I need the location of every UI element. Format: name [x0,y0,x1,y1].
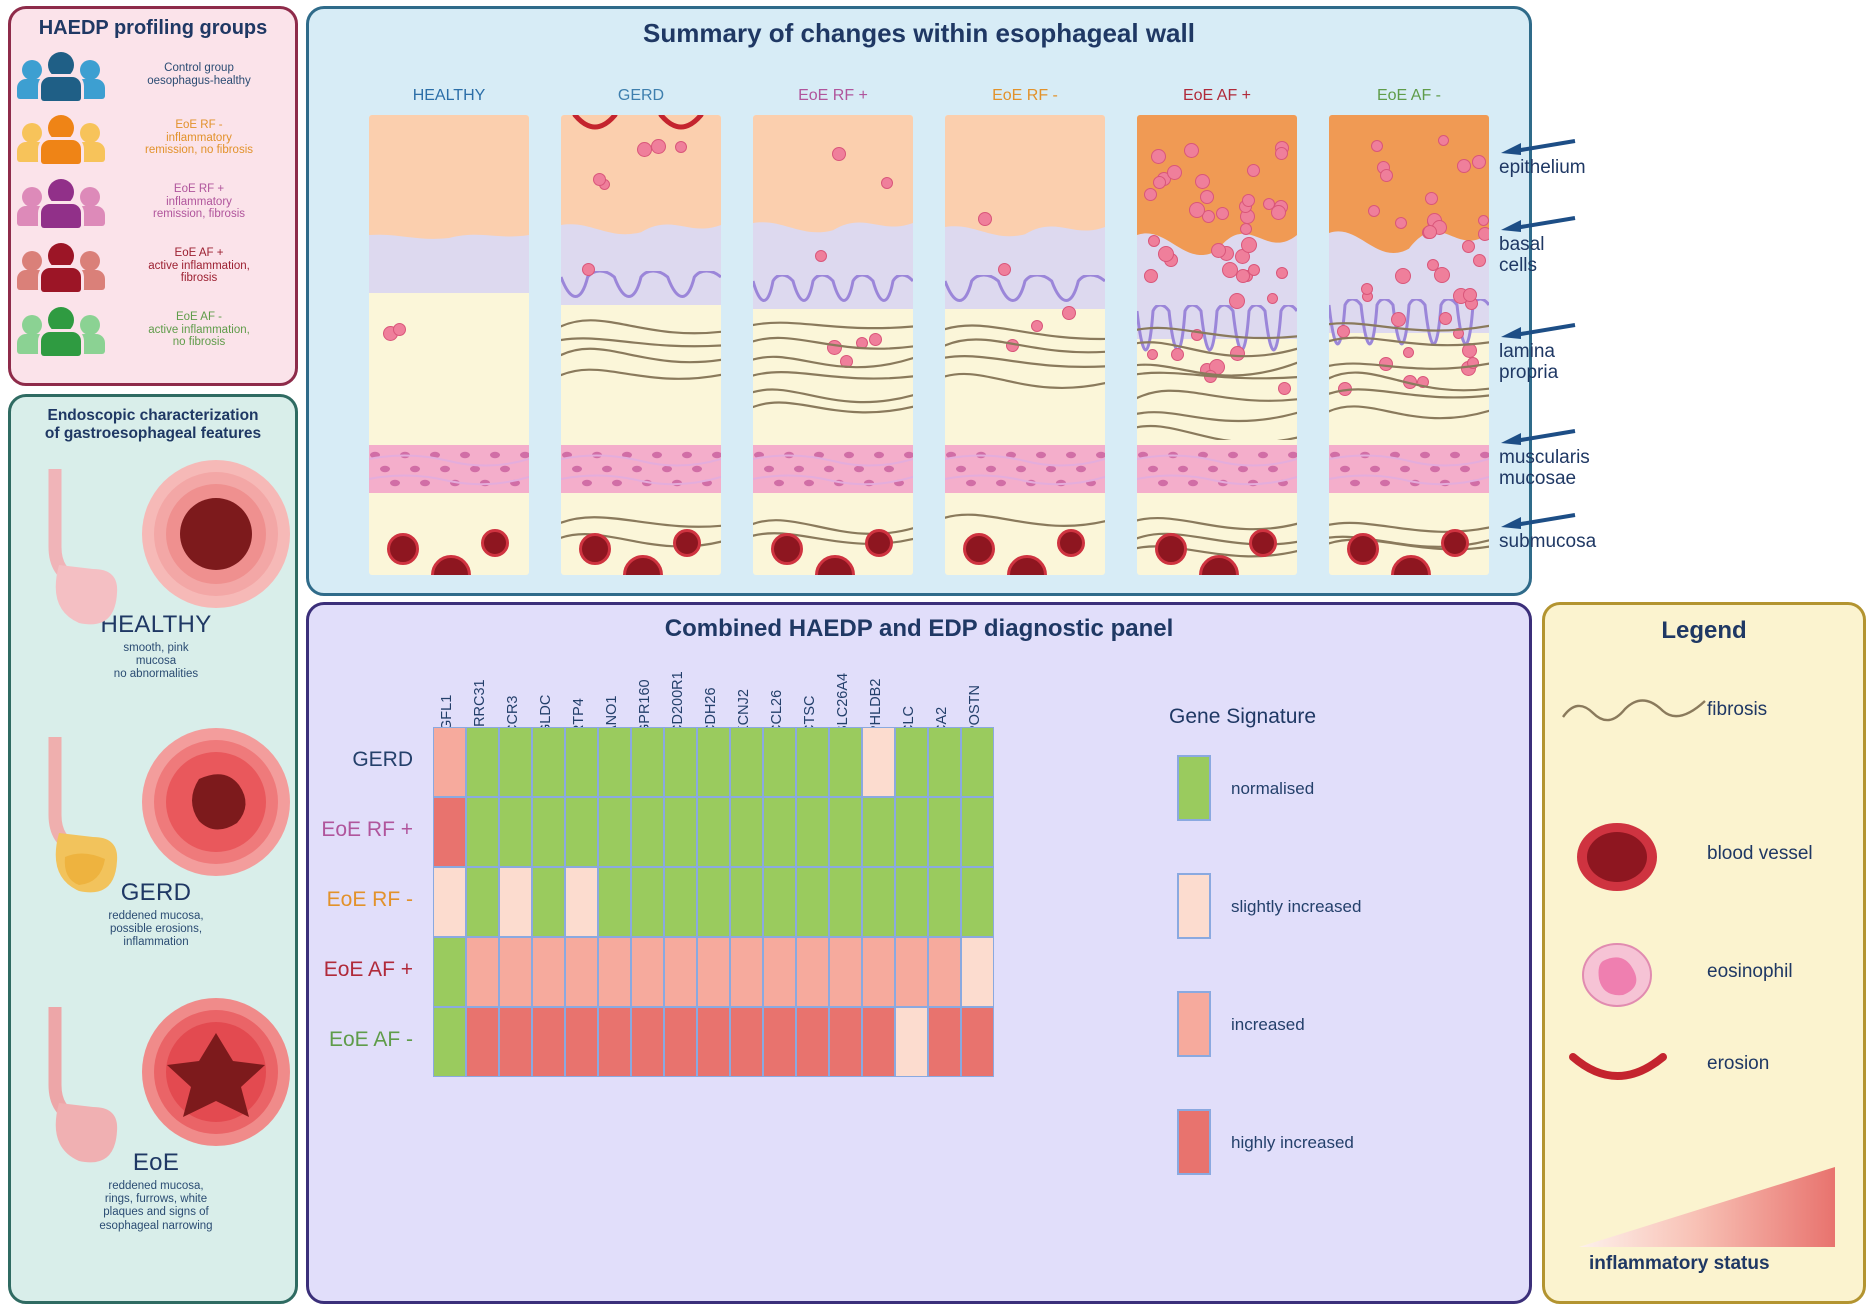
tissue-layer-label-text: lamina propria [1499,342,1558,384]
heatmap-row-label: EoE AF - [233,1028,413,1052]
epithelium-layer [369,115,529,265]
heatmap-cell [862,797,895,867]
heatmap-cell [895,797,928,867]
eosinophil-icon [1229,293,1245,309]
inflammatory-status-label: inflammatory status [1589,1253,1770,1275]
profiling-group-label-line: remission, fibrosis [107,208,291,221]
eosinophil-icon [1472,155,1486,169]
people-group-icon [15,243,107,289]
heatmap-cell [433,937,466,1007]
heatmap-cell [928,937,961,1007]
profiling-group-row: EoE AF +active inflammation,fibrosis [11,234,295,298]
heatmap-cell [598,727,631,797]
heatmap-cell [829,867,862,937]
heatmap-cell [532,867,565,937]
profiling-group-row: EoE AF -active inflammation,no fibrosis [11,298,295,362]
heatmap-cell [730,727,763,797]
heatmap-cell [565,797,598,867]
heatmap-cell [895,1007,928,1077]
endoscopic-characterization-panel: Endoscopic characterization of gastroeso… [8,394,298,1304]
heatmap-cell [796,797,829,867]
fibrosis-icon [1329,310,1489,440]
gene-signature-title: Gene Signature [1169,705,1316,729]
tissue-layer-label: basal cells [1499,214,1585,277]
heatmap-cell [697,867,730,937]
heatmap-cell [928,867,961,937]
heatmap-cell [796,1007,829,1077]
heatmap-cell [433,867,466,937]
endoscopy-item-description: smooth, pinkmucosano abnormalities [11,642,301,682]
eosinophil-icon [1478,227,1489,241]
eosinophil-icon [1240,223,1252,235]
eosinophil-icon [1242,194,1255,207]
esophageal-wall-column [561,115,721,575]
heatmap-cell [565,1007,598,1077]
eosinophil-icon [1153,176,1166,189]
erosion-icon [561,115,721,143]
heatmap-cell [763,1007,796,1077]
heatmap-cell [796,727,829,797]
wall-column-header: HEALTHY [369,87,529,105]
tissue-layer-label-text: submucosa [1499,532,1596,553]
wall-column-header: EoE RF - [945,87,1105,105]
wavy-line-icon [1559,691,1709,736]
eosinophil-icon [637,142,652,157]
esophageal-wall-column [945,115,1105,575]
heatmap-cell [829,727,862,797]
profiling-group-label: EoE RF -inflammatoryremission, no fibros… [107,119,291,158]
profiling-group-label-line: remission, no fibrosis [107,144,291,157]
gene-signature-legend-label: normalised [1231,779,1314,799]
endoscopic-view-icon [141,459,291,609]
tissue-layer-label-text: muscularis mucosae [1499,448,1590,490]
profiling-group-label: Control groupoesophagus-healthy [107,62,291,88]
endoscopy-description-line: plaques and signs of [33,1206,279,1219]
eosinophil-icon [1211,243,1226,258]
muscularis-mucosae-layer [369,445,529,493]
heatmap-cell [895,727,928,797]
heatmap-row-label: EoE RF - [233,888,413,912]
heatmap-cell [829,797,862,867]
muscularis-mucosae-layer [945,445,1105,493]
muscularis-mucosae-layer [1137,445,1297,493]
eosinophil-icon [651,139,666,154]
heatmap-cell [631,937,664,1007]
people-group-icon [15,179,107,225]
panel-title-line-1: Endoscopic characterization [17,407,289,425]
heatmap-cell [862,727,895,797]
heatmap-cell [961,937,994,1007]
endoscopy-description-line: smooth, pink [33,642,279,655]
gene-signature-swatch [1177,1109,1211,1175]
muscularis-mucosae-layer [753,445,913,493]
blood-vessel-icon [387,533,419,565]
heatmap-cell [466,1007,499,1077]
eosinophil-icon [1462,240,1475,253]
heatmap-cell [664,1007,697,1077]
people-group-icon [15,307,107,353]
gene-signature-legend-label: highly increased [1231,1133,1354,1153]
profiling-group-list: Control groupoesophagus-healthy EoE RF -… [11,44,295,362]
gene-signature-swatch [1177,755,1211,821]
blood-vessel-icon [1249,529,1277,557]
people-group-icon [15,52,107,98]
legend-panel: Legend fibrosis blood vessel eosinophile… [1542,602,1866,1304]
stomach-diagram-icon [35,1007,127,1167]
heatmap-cell [499,797,532,867]
legend-item-label: blood vessel [1707,843,1813,865]
esophageal-wall-column [753,115,913,575]
endoscopy-description-line: reddened mucosa, [33,1180,279,1193]
eosinophil-icon [1276,267,1288,279]
heatmap-cell [697,727,730,797]
heatmap-cell [763,797,796,867]
tissue-layer-label: muscularis mucosae [1499,427,1590,490]
blood-vessel-icon [1559,817,1709,902]
legend-item-label: fibrosis [1707,699,1767,721]
eosinophil-icon [978,212,992,226]
fibrosis-icon [945,310,1105,440]
heatmap-cell [499,1007,532,1077]
blood-vessel-icon [1441,529,1469,557]
heatmap-cell [730,867,763,937]
eosinophil-icon [1167,165,1182,180]
heatmap-cell [664,797,697,867]
eosinophil-icon [1559,935,1709,1020]
inflammatory-gradient-icon [1579,1161,1835,1247]
epithelium-layer [945,115,1105,257]
profiling-group-row: Control groupoesophagus-healthy [11,44,295,106]
profiling-group-label-line: fibrosis [107,272,291,285]
wall-column-header: EoE AF + [1137,87,1297,105]
heatmap-cell [664,937,697,1007]
blood-vessel-icon [963,533,995,565]
heatmap-cell [499,727,532,797]
profiling-group-label-line: Control group [107,62,291,75]
profiling-group-label-line: inflammatory [107,132,291,145]
haedp-profiling-groups-panel: HAEDP profiling groups Control groupoeso… [8,6,298,386]
tissue-layer-label: epithelium [1499,137,1586,179]
heatmap-cell [829,1007,862,1077]
gene-column-label: CD200R1 [670,671,686,735]
wall-column-header: GERD [561,87,721,105]
heatmap-cell [631,797,664,867]
eosinophil-icon [998,263,1011,276]
tissue-layer-label-text: epithelium [1499,158,1586,179]
profiling-group-label-line: EoE RF - [107,119,291,132]
heatmap-cell [499,937,532,1007]
panel-title: Legend [1545,617,1863,645]
wall-column-header: EoE RF + [753,87,913,105]
heatmap-cell [862,937,895,1007]
heatmap-row-label: GERD [233,748,413,772]
eosinophil-icon [1241,237,1257,253]
profiling-group-label-line: no fibrosis [107,336,291,349]
heatmap-cell [928,797,961,867]
blood-vessel-icon [771,533,803,565]
heatmap-cell [466,867,499,937]
fibrosis-icon [561,310,721,440]
gene-signature-legend-label: slightly increased [1231,897,1361,917]
blood-vessel-icon [1155,533,1187,565]
gene-signature-swatch [1177,991,1211,1057]
gene-signature-legend-label: increased [1231,1015,1305,1035]
heatmap-cell [499,867,532,937]
profiling-group-row: EoE RF -inflammatoryremission, no fibros… [11,106,295,170]
eosinophil-icon [1427,259,1439,271]
profiling-group-label-line: EoE AF + [107,247,291,260]
heatmap-cell [466,797,499,867]
blood-vessel-icon [1057,529,1085,557]
eosinophil-icon [1271,205,1286,220]
heatmap-cell [895,937,928,1007]
endoscopy-description-line: mucosa [33,655,279,668]
heatmap-cell [895,867,928,937]
heatmap-cell [565,937,598,1007]
esophageal-wall-column [1137,115,1297,575]
heatmap-cell [565,727,598,797]
heatmap-cell [598,797,631,867]
heatmap-row-label: EoE AF + [233,958,413,982]
eosinophil-icon [1144,269,1158,283]
profiling-group-label-line: active inflammation, [107,324,291,337]
heatmap-cell [631,1007,664,1077]
endoscopic-view-icon [141,997,291,1147]
eosinophil-icon [815,250,827,262]
tissue-layer-label: lamina propria [1499,321,1585,384]
heatmap-cell [664,867,697,937]
heatmap-cell [763,937,796,1007]
heatmap-cell [433,727,466,797]
heatmap-cell [433,1007,466,1077]
blood-vessel-icon [579,533,611,565]
eosinophil-icon [1473,254,1486,267]
eosinophil-icon [1248,264,1260,276]
eosinophil-icon [1158,246,1174,262]
diagnostic-panel: Combined HAEDP and EDP diagnostic panel … [306,602,1532,1304]
stomach-diagram-icon [35,469,127,629]
heatmap-cell [961,797,994,867]
heatmap-cell [631,867,664,937]
endoscopy-description-line: possible erosions, [33,923,279,936]
panel-title: Endoscopic characterization of gastroeso… [17,407,289,444]
endoscopy-item-description: reddened mucosa,possible erosions,inflam… [11,910,301,950]
heatmap-cell [697,1007,730,1077]
heatmap-cell [730,1007,763,1077]
endoscopy-description-line: rings, furrows, white [33,1193,279,1206]
erosion-icon [1559,1047,1709,1098]
profiling-group-label-line: inflammatory [107,196,291,209]
heatmap-cell [565,867,598,937]
endoscopy-description-line: no abnormalities [33,668,279,681]
heatmap-cell [598,937,631,1007]
heatmap-cell [598,867,631,937]
esophageal-wall-column [1329,115,1489,575]
profiling-group-label-line: oesophagus-healthy [107,75,291,88]
profiling-group-label-line: active inflammation, [107,260,291,273]
endoscopy-description-line: esophageal narrowing [33,1220,279,1233]
tissue-layer-label: submucosa [1499,511,1596,553]
heatmap-cell [598,1007,631,1077]
profiling-group-label-line: EoE RF + [107,183,291,196]
heatmap-cell [928,727,961,797]
people-group-icon [15,115,107,161]
heatmap-cell [829,937,862,1007]
panel-title-line-2: of gastroesophageal features [17,425,289,443]
heatmap-cell [532,727,565,797]
eosinophil-icon [675,141,687,153]
stomach-diagram-icon [35,737,127,897]
fibrosis-icon [753,310,913,440]
heatmap-cell [961,1007,994,1077]
tissue-layer-label-text: basal cells [1499,235,1585,277]
wall-column-header: EoE AF - [1329,87,1489,105]
profiling-group-label: EoE AF -active inflammation,no fibrosis [107,311,291,350]
heatmap-cell [532,937,565,1007]
heatmap-cell [730,937,763,1007]
gene-column-label: SLC26A4 [835,673,851,735]
profiling-group-label: EoE RF +inflammatoryremission, fibrosis [107,183,291,222]
heatmap-cell [631,727,664,797]
heatmap-cell [697,797,730,867]
eosinophil-icon [1247,164,1260,177]
legend-item-label: erosion [1707,1053,1769,1075]
eosinophil-icon [582,263,595,276]
heatmap-cell [763,727,796,797]
profiling-group-label: EoE AF +active inflammation,fibrosis [107,247,291,286]
eosinophil-icon [1368,205,1380,217]
heatmap-cell [532,1007,565,1077]
esophageal-wall-summary-panel: Summary of changes within esophageal wal… [306,6,1532,596]
heatmap-cell [763,867,796,937]
esophageal-wall-column [369,115,529,575]
eosinophil-icon [1189,202,1205,218]
heatmap-cell [796,867,829,937]
legend-item-label: eosinophil [1707,961,1793,983]
eosinophil-icon [1275,147,1288,160]
endoscopy-item: HEALTHYsmooth, pinkmucosano abnormalitie… [11,459,301,719]
heatmap-cell [862,867,895,937]
fibrosis-icon [1137,310,1297,440]
heatmap-row-label: EoE RF + [233,818,413,842]
panel-title: Combined HAEDP and EDP diagnostic panel [309,615,1529,643]
blood-vessel-icon [1347,533,1379,565]
profiling-group-row: EoE RF +inflammatoryremission, fibrosis [11,170,295,234]
profiling-group-label-line: EoE AF - [107,311,291,324]
blood-vessel-icon [673,529,701,557]
endoscopy-item-description: reddened mucosa,rings, furrows, whitepla… [11,1180,301,1233]
panel-title: HAEDP profiling groups [11,17,295,40]
heatmap-cell [532,797,565,867]
heatmap-cell [664,727,697,797]
heatmap-cell [961,867,994,937]
heatmap-cell [697,937,730,1007]
heatmap-cell [862,1007,895,1077]
blood-vessel-icon [481,529,509,557]
muscularis-mucosae-layer [561,445,721,493]
eosinophil-icon [393,323,406,336]
gene-signature-swatch [1177,873,1211,939]
panel-title: Summary of changes within esophageal wal… [309,18,1529,49]
heatmap-cell [796,937,829,1007]
heatmap-cell [466,937,499,1007]
eosinophil-icon [1216,207,1229,220]
heatmap-cell [928,1007,961,1077]
eosinophil-icon [832,147,846,161]
muscularis-mucosae-layer [1329,445,1489,493]
heatmap-cell [730,797,763,867]
heatmap-cell [961,727,994,797]
endoscopy-description-line: inflammation [33,936,279,949]
heatmap-cell [433,797,466,867]
eosinophil-icon [881,177,893,189]
heatmap-cell [466,727,499,797]
blood-vessel-icon [865,529,893,557]
